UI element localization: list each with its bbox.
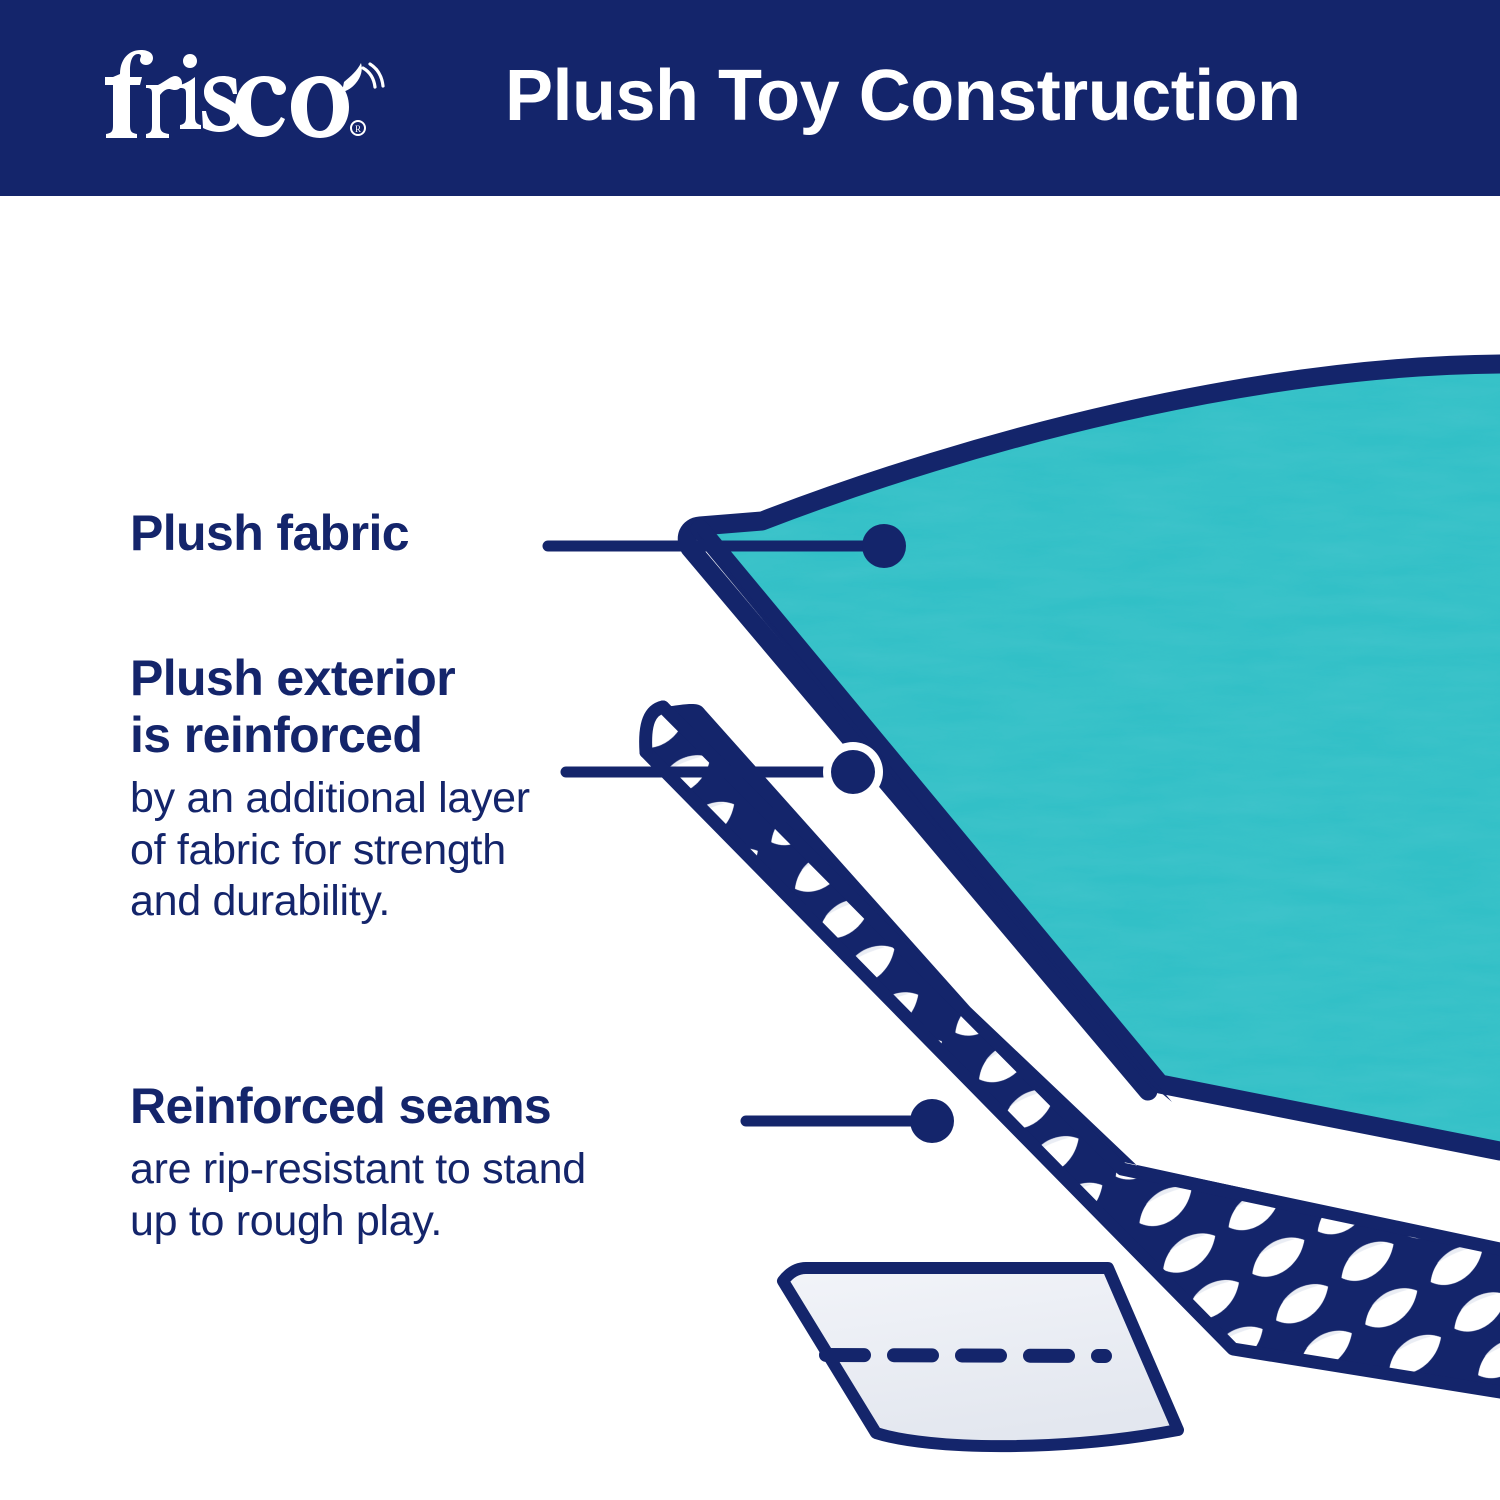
callout-reinforced-seams-heading: Reinforced seams — [130, 1078, 790, 1135]
svg-text:R: R — [355, 124, 361, 134]
callout-plush-exterior: Plush exterior is reinforced by an addit… — [130, 650, 720, 928]
registered-trademark-icon: R — [351, 121, 365, 135]
frisco-logo: R — [86, 44, 386, 148]
callout-reinforced-seams: Reinforced seams are rip-resistant to st… — [130, 1078, 790, 1247]
dashed-stitch — [826, 1355, 1105, 1356]
callout-reinforced-seams-body: are rip-resistant to stand up to rough p… — [130, 1144, 790, 1247]
plush-fabric-panel — [687, 364, 1500, 1151]
seam-flap — [783, 1268, 1178, 1446]
callout-plush-fabric-heading: Plush fabric — [130, 505, 560, 562]
page-title: Plush Toy Construction — [505, 44, 1405, 148]
callout-plush-fabric: Plush fabric — [130, 505, 560, 562]
page-header: R Plush Toy Construction — [0, 0, 1500, 196]
callout-plush-exterior-body: by an additional layer of fabric for str… — [130, 773, 720, 928]
callout-plush-exterior-heading: Plush exterior is reinforced — [130, 650, 720, 764]
